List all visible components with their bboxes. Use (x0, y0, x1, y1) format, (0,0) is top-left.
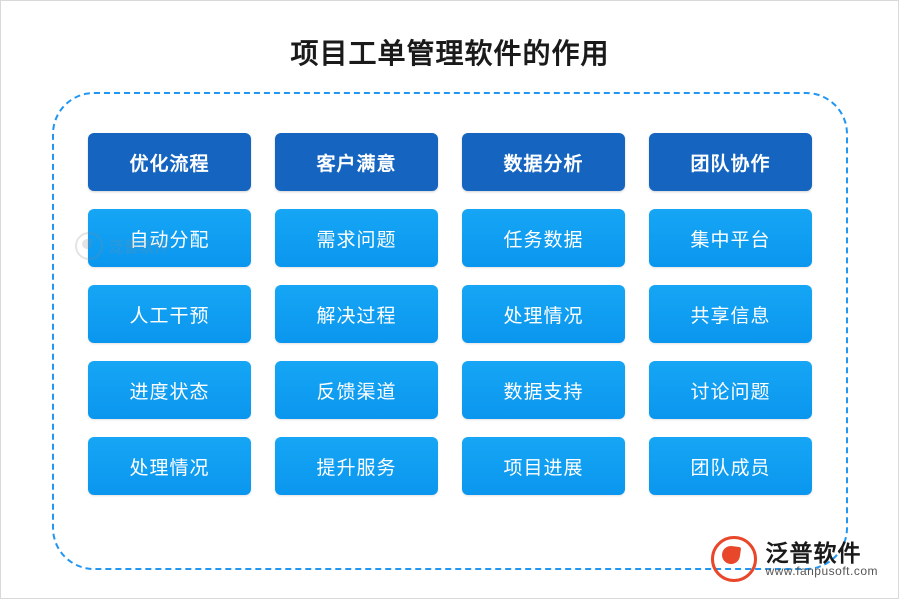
category-item-1-2[interactable]: 人工干预 (88, 285, 251, 343)
category-item-2-4[interactable]: 提升服务 (275, 437, 438, 495)
category-item-2-2[interactable]: 解决过程 (275, 285, 438, 343)
category-item-3-1[interactable]: 任务数据 (462, 209, 625, 267)
category-column-2: 客户满意 需求问题 解决过程 反馈渠道 提升服务 (275, 133, 438, 495)
category-item-4-4[interactable]: 团队成员 (649, 437, 812, 495)
category-header-4[interactable]: 团队协作 (649, 133, 812, 191)
category-grid: 优化流程 自动分配 人工干预 进度状态 处理情况 客户满意 需求问题 解决过程 … (88, 133, 812, 495)
page-title: 项目工单管理软件的作用 (0, 32, 900, 72)
category-item-2-3[interactable]: 反馈渠道 (275, 361, 438, 419)
category-item-2-1[interactable]: 需求问题 (275, 209, 438, 267)
logo-text-block: 泛普软件 www.fanpusoft.com (765, 541, 878, 578)
category-column-1: 优化流程 自动分配 人工干预 进度状态 处理情况 (88, 133, 251, 495)
category-item-3-2[interactable]: 处理情况 (462, 285, 625, 343)
category-item-3-4[interactable]: 项目进展 (462, 437, 625, 495)
logo-company-name: 泛普软件 (765, 541, 878, 565)
category-item-1-1[interactable]: 自动分配 (88, 209, 251, 267)
category-item-1-3[interactable]: 进度状态 (88, 361, 251, 419)
logo-website: www.fanpusoft.com (765, 565, 878, 578)
category-header-3[interactable]: 数据分析 (462, 133, 625, 191)
category-column-4: 团队协作 集中平台 共享信息 讨论问题 团队成员 (649, 133, 812, 495)
brand-logo: 泛普软件 www.fanpusoft.com (711, 536, 878, 582)
fanpu-logo-icon (711, 536, 757, 582)
category-item-4-1[interactable]: 集中平台 (649, 209, 812, 267)
category-header-1[interactable]: 优化流程 (88, 133, 251, 191)
category-item-4-3[interactable]: 讨论问题 (649, 361, 812, 419)
category-item-4-2[interactable]: 共享信息 (649, 285, 812, 343)
category-column-3: 数据分析 任务数据 处理情况 数据支持 项目进展 (462, 133, 625, 495)
category-header-2[interactable]: 客户满意 (275, 133, 438, 191)
category-item-3-3[interactable]: 数据支持 (462, 361, 625, 419)
category-item-1-4[interactable]: 处理情况 (88, 437, 251, 495)
